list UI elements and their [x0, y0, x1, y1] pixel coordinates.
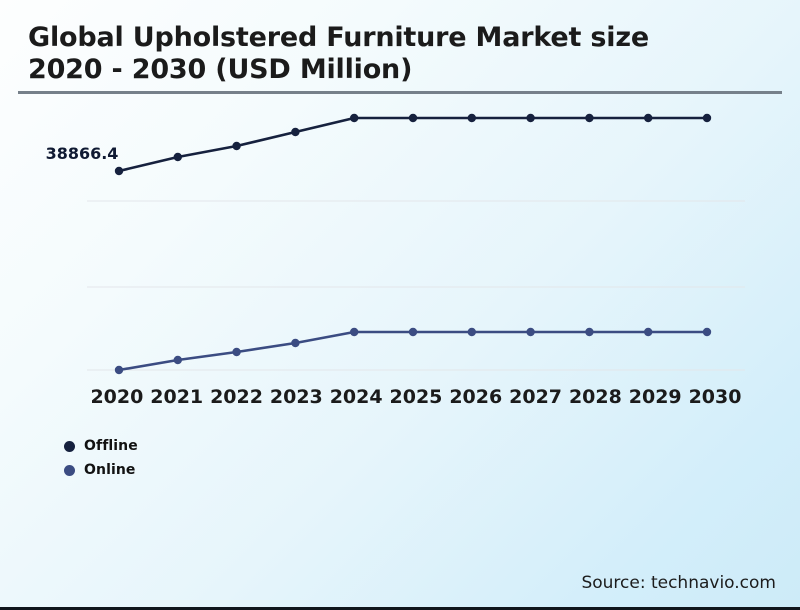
- legend-label-online: Online: [84, 462, 136, 478]
- data-point-online-2022[interactable]: [232, 348, 240, 356]
- gridlines-group: [87, 201, 745, 370]
- data-point-online-2026[interactable]: [468, 328, 476, 336]
- data-point-online-2025[interactable]: [409, 328, 417, 336]
- data-point-online-2027[interactable]: [526, 328, 534, 336]
- legend-item-online[interactable]: Online: [64, 458, 138, 482]
- data-point-online-2029[interactable]: [644, 328, 652, 336]
- x-tick-2027: 2027: [506, 384, 566, 414]
- legend-dot-icon-offline: [64, 441, 75, 452]
- data-point-offline-2028[interactable]: [585, 114, 593, 122]
- x-tick-2025: 2025: [386, 384, 446, 414]
- x-tick-2030: 2030: [685, 384, 745, 414]
- x-tick-2024: 2024: [326, 384, 386, 414]
- x-tick-2028: 2028: [566, 384, 626, 414]
- data-point-offline-2022[interactable]: [232, 142, 240, 150]
- x-axis-labels: 2020202120222023202420252026202720282029…: [87, 384, 745, 414]
- x-tick-2026: 2026: [446, 384, 506, 414]
- legend-dot-icon-online: [64, 465, 75, 476]
- x-tick-2020: 2020: [87, 384, 147, 414]
- x-tick-2029: 2029: [625, 384, 685, 414]
- data-point-online-2030[interactable]: [703, 328, 711, 336]
- series-line-offline: [119, 118, 707, 171]
- page-title: Global Upholstered Furniture Market size…: [28, 22, 728, 85]
- data-label-offline-2020: 38866.4: [46, 144, 119, 163]
- chart-legend: OfflineOnline: [64, 434, 138, 482]
- data-point-online-2028[interactable]: [585, 328, 593, 336]
- x-tick-2023: 2023: [266, 384, 326, 414]
- data-point-offline-2030[interactable]: [703, 114, 711, 122]
- data-point-online-2021[interactable]: [174, 356, 182, 364]
- data-point-offline-2024[interactable]: [350, 114, 358, 122]
- source-note: Source: technavio.com: [581, 573, 776, 593]
- data-point-online-2023[interactable]: [291, 339, 299, 347]
- title-divider: [18, 91, 782, 94]
- data-point-online-2024[interactable]: [350, 328, 358, 336]
- line-chart-svg: [0, 100, 800, 390]
- infographic-container: Global Upholstered Furniture Market size…: [0, 0, 800, 610]
- data-point-offline-2027[interactable]: [526, 114, 534, 122]
- data-point-offline-2025[interactable]: [409, 114, 417, 122]
- chart-plot-area: 38866.4: [0, 100, 800, 390]
- legend-item-offline[interactable]: Offline: [64, 434, 138, 458]
- data-point-offline-2026[interactable]: [468, 114, 476, 122]
- data-point-offline-2021[interactable]: [174, 153, 182, 161]
- series-group: [115, 114, 711, 374]
- title-block: Global Upholstered Furniture Market size…: [28, 22, 728, 85]
- legend-label-offline: Offline: [84, 438, 138, 454]
- data-point-offline-2029[interactable]: [644, 114, 652, 122]
- x-tick-2022: 2022: [207, 384, 267, 414]
- x-tick-2021: 2021: [147, 384, 207, 414]
- data-point-offline-2023[interactable]: [291, 128, 299, 136]
- series-line-online: [119, 332, 707, 370]
- data-point-offline-2020[interactable]: [115, 167, 123, 175]
- data-point-online-2020[interactable]: [115, 366, 123, 374]
